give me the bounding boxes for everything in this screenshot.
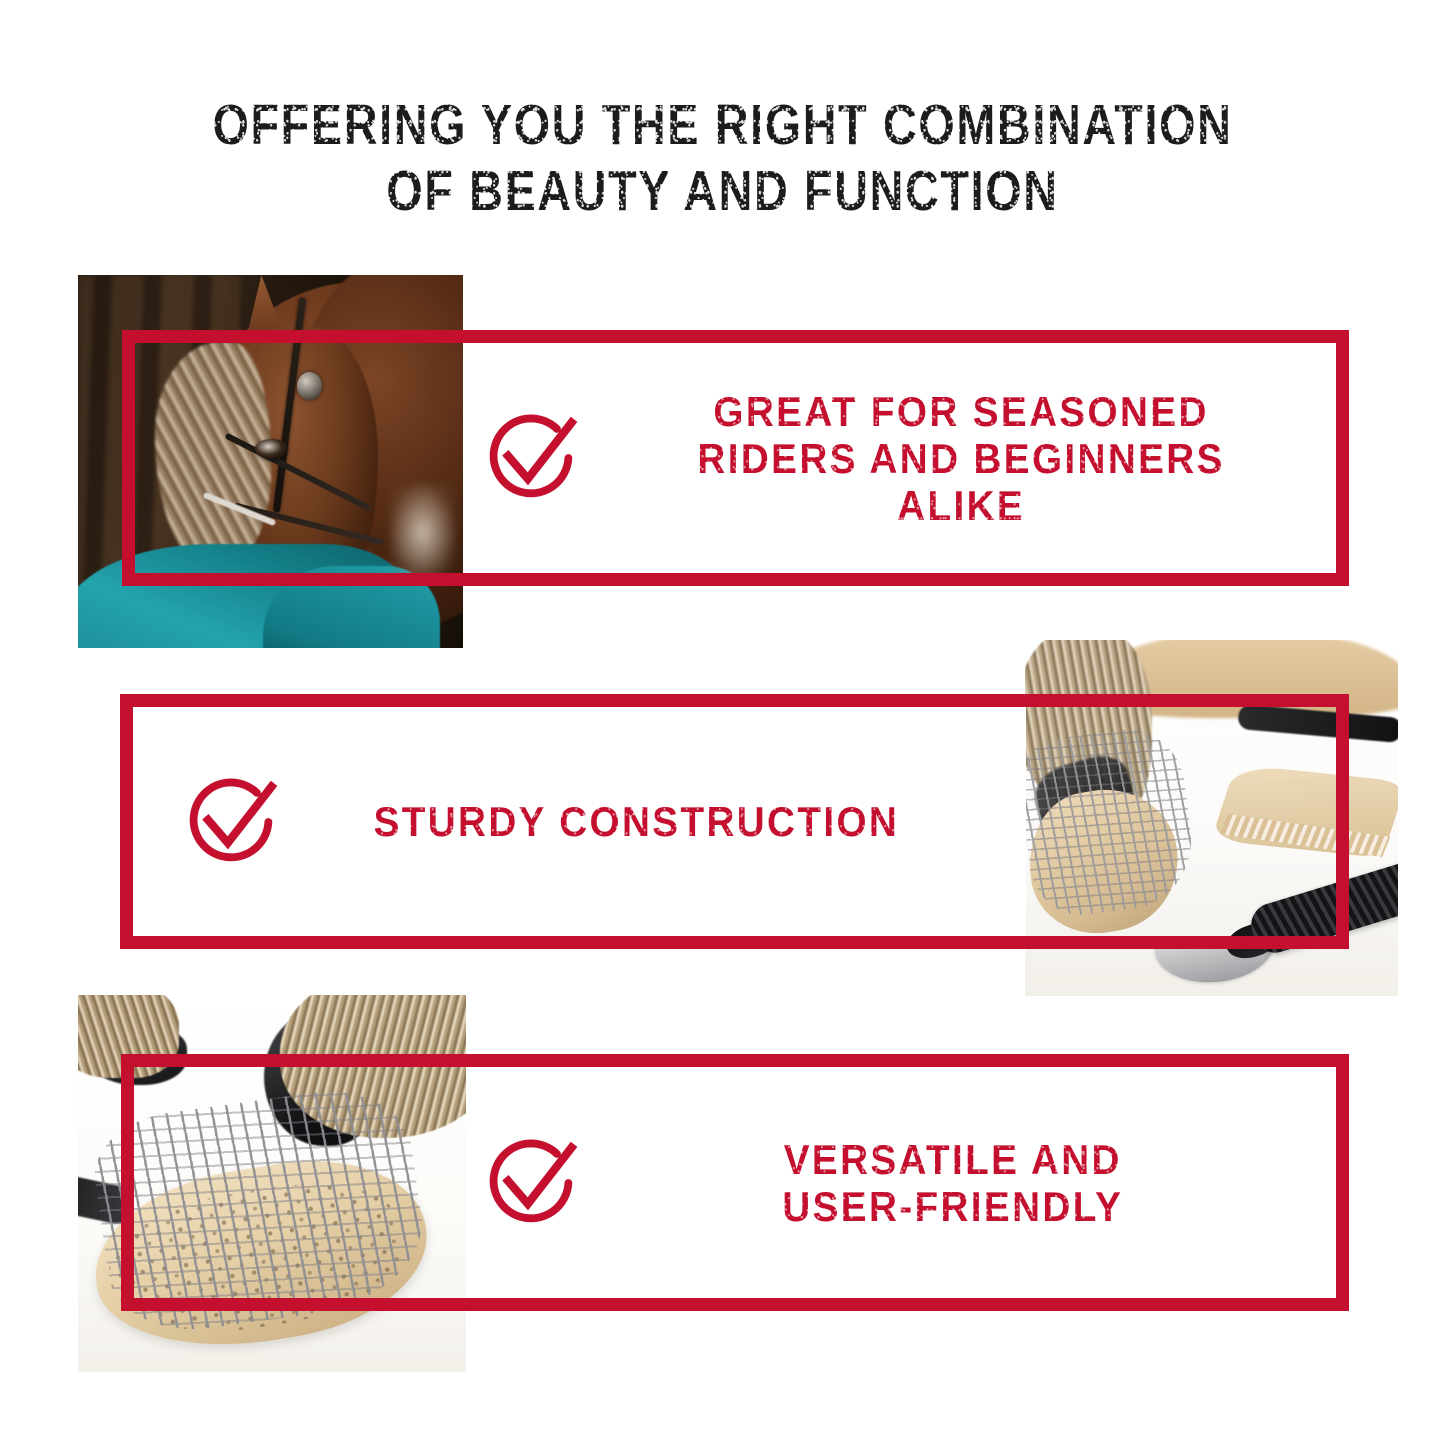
feature-label-seasoned-riders: GREAT FOR SEASONED RIDERS AND BEGINNERS … bbox=[640, 388, 1320, 529]
feature-row-sturdy-construction: STURDY CONSTRUCTION bbox=[180, 694, 1026, 949]
feature-label-sturdy-construction: STURDY CONSTRUCTION bbox=[339, 798, 998, 845]
feature-label-line-1: STURDY CONSTRUCTION bbox=[374, 798, 998, 845]
feature-label-versatile-user-friendly: VERSATILE AND USER-FRIENDLY bbox=[640, 1136, 1320, 1230]
feature-row-versatile-user-friendly: VERSATILE AND USER-FRIENDLY bbox=[480, 1054, 1349, 1311]
feature-label-line-2: RIDERS AND BEGINNERS bbox=[640, 435, 1283, 482]
page-title-line-2: OF BEAUTY AND FUNCTION bbox=[130, 158, 1315, 224]
circle-check-icon bbox=[180, 770, 284, 874]
circle-check-icon bbox=[480, 1131, 584, 1235]
page-title: OFFERING YOU THE RIGHT COMBINATION OF BE… bbox=[130, 92, 1315, 224]
feature-label-line-1: VERSATILE AND bbox=[640, 1136, 1267, 1183]
infographic-canvas: OFFERING YOU THE RIGHT COMBINATION OF BE… bbox=[0, 0, 1445, 1445]
feature-label-line-1: GREAT FOR SEASONED bbox=[640, 388, 1283, 435]
feature-label-line-2: USER-FRIENDLY bbox=[640, 1183, 1267, 1230]
page-title-line-1: OFFERING YOU THE RIGHT COMBINATION bbox=[130, 92, 1315, 158]
feature-label-line-3: ALIKE bbox=[640, 482, 1283, 529]
feature-row-seasoned-riders: GREAT FOR SEASONED RIDERS AND BEGINNERS … bbox=[480, 330, 1349, 586]
circle-check-icon bbox=[480, 406, 584, 510]
